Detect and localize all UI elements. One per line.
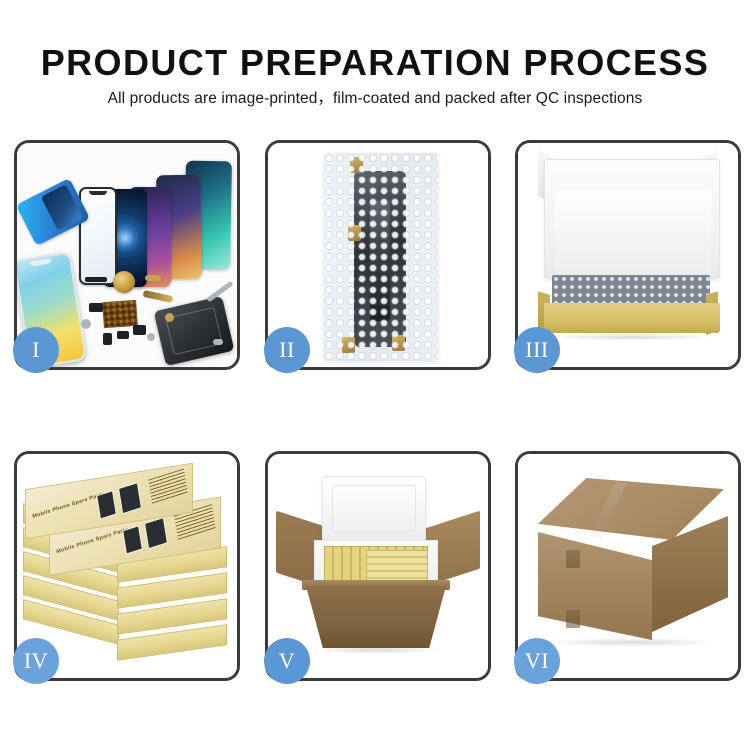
foam-lid: [544, 159, 720, 279]
small-part-d: [117, 331, 129, 339]
small-part-f: [147, 333, 155, 341]
box-shadow: [548, 333, 716, 341]
process-step-6[interactable]: VI: [515, 451, 741, 681]
infographic-page: PRODUCT PREPARATION PROCESS All products…: [0, 0, 750, 750]
box-art-phone-lower-2: [144, 517, 168, 549]
process-grid: I II: [14, 140, 736, 692]
process-step-5[interactable]: V: [265, 451, 491, 681]
inner-yellow-boxes-stacked: [366, 550, 428, 582]
kraft-box-front: [544, 303, 720, 333]
speaker-module-part: [113, 271, 135, 293]
flex-cable-part: [143, 290, 174, 303]
step-badge-1: I: [13, 327, 59, 373]
step-badge-5: V: [264, 638, 310, 684]
small-part-a: [89, 303, 103, 312]
step-badge-4: IV: [13, 638, 59, 684]
box-label-upper: Mobile Phone Spare Parts: [32, 492, 105, 520]
phone-back-housing: [154, 296, 235, 366]
bubble-wrapped-contents: [552, 275, 710, 305]
process-step-3[interactable]: III: [515, 140, 741, 370]
carton-shadow: [544, 638, 718, 647]
small-part-strip: [85, 277, 107, 282]
foam-lid-inner: [555, 190, 711, 274]
bubble-texture: [324, 153, 438, 361]
step-badge-3: III: [514, 327, 560, 373]
screwdriver-bit: [213, 339, 223, 345]
small-part-b: [81, 319, 91, 329]
box-art-phone-upper-2: [118, 482, 142, 514]
logic-board-part: [102, 300, 138, 328]
bubble-wrap-bag: [324, 153, 438, 361]
small-part-g: [165, 313, 174, 322]
process-step-1[interactable]: I: [14, 140, 240, 370]
box-spec-lines-upper: [148, 468, 187, 503]
carton-shadow: [312, 646, 440, 654]
carton-left-face: [538, 532, 652, 640]
carton-tape-upper: [566, 550, 580, 568]
step-badge-6: VI: [514, 638, 560, 684]
process-step-2[interactable]: II: [265, 140, 491, 370]
foam-cooler-lid: [322, 476, 426, 542]
page-title: PRODUCT PREPARATION PROCESS: [0, 42, 750, 84]
small-part-gold: [145, 275, 161, 281]
small-part-c: [103, 333, 112, 345]
step-badge-2: II: [264, 327, 310, 373]
carton-front-panel: [306, 586, 446, 648]
small-part-e: [133, 325, 146, 335]
page-subtitle: All products are image-printed，film-coat…: [0, 86, 750, 108]
carton-tape-lower: [566, 610, 580, 628]
process-step-4[interactable]: Mobile Phone Spare Parts Mobile Phone Sp…: [14, 451, 240, 681]
box-art-phone-upper-1: [96, 490, 117, 519]
tempered-glass-protector: [79, 187, 117, 285]
box-art-phone-lower-1: [122, 525, 143, 554]
